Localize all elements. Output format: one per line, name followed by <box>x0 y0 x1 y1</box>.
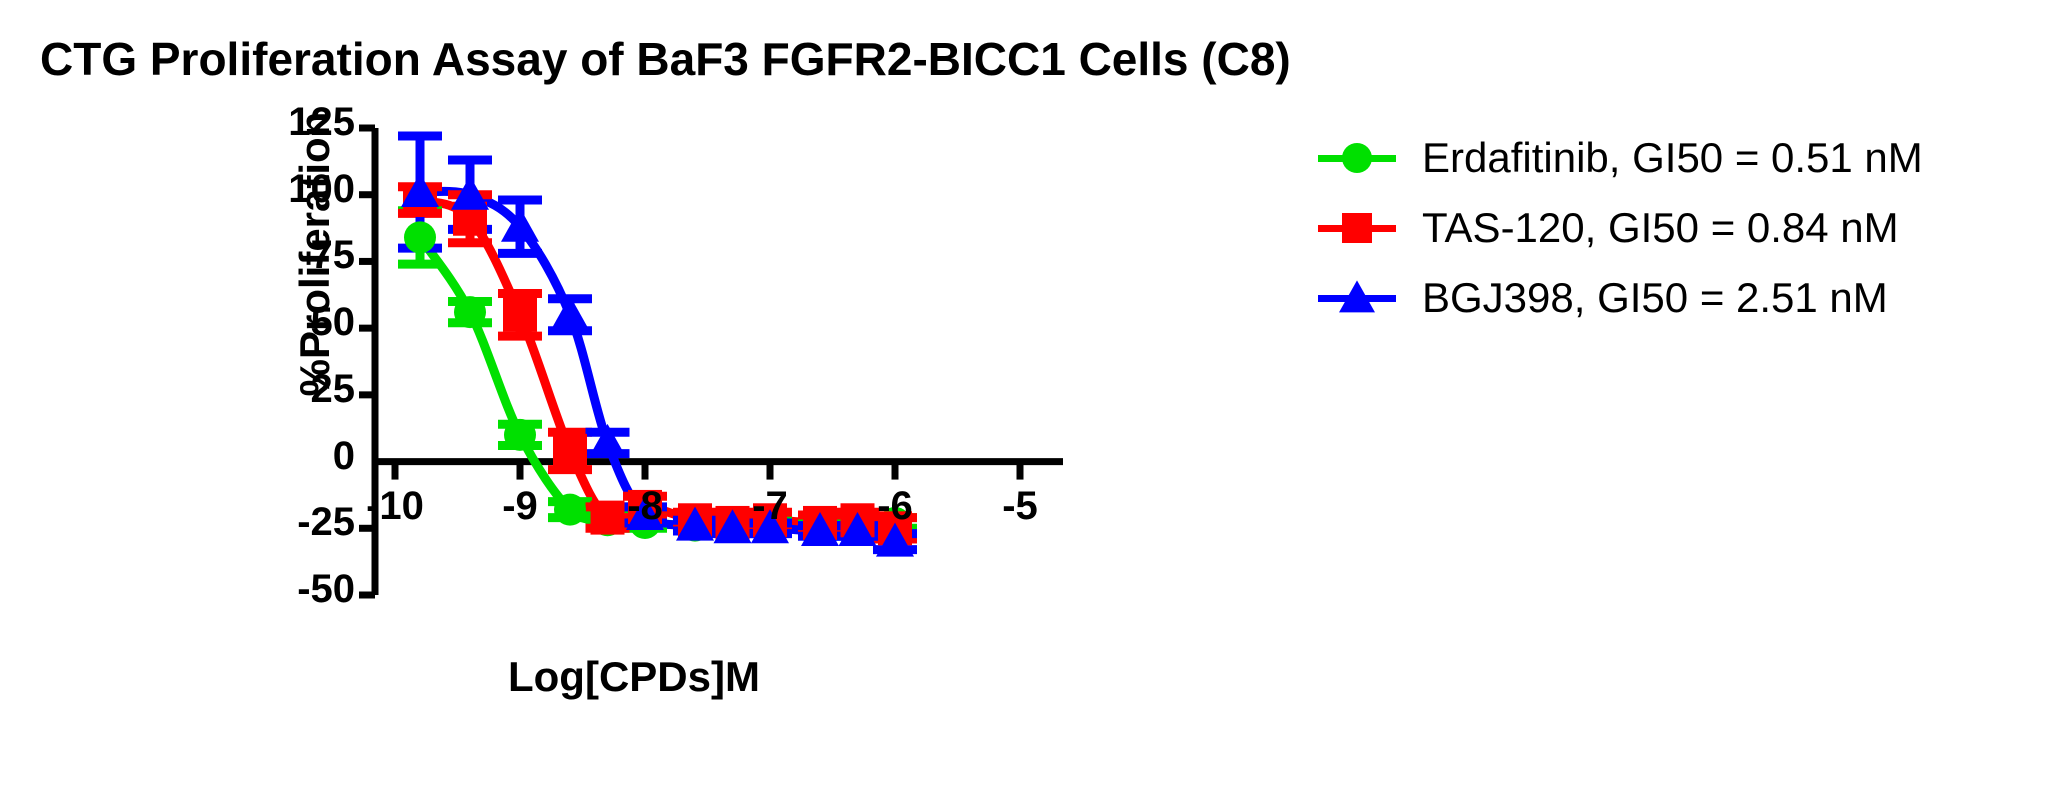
chart-legend: Erdafitinib, GI50 = 0.51 nMTAS-120, GI50… <box>1318 132 1923 324</box>
x-tick-label: -9 <box>480 484 560 529</box>
legend-item[interactable]: TAS-120, GI50 = 0.84 nM <box>1318 202 1923 254</box>
legend-item[interactable]: BGJ398, GI50 = 2.51 nM <box>1318 272 1923 324</box>
x-tick-label: -8 <box>605 484 685 529</box>
x-tick-label: -7 <box>730 484 810 529</box>
legend-marker-square-icon <box>1318 208 1396 248</box>
data-point-marker <box>503 298 537 332</box>
x-tick-label: -6 <box>855 484 935 529</box>
data-point-marker <box>454 296 486 328</box>
legend-item-label: TAS-120, GI50 = 0.84 nM <box>1422 204 1899 252</box>
legend-triangle-icon <box>1339 280 1375 312</box>
y-tick-label: 75 <box>150 233 355 278</box>
y-tick-label: -25 <box>150 500 355 545</box>
x-axis-title: Log[CPDs]M <box>508 653 760 701</box>
y-tick-label: -50 <box>150 567 355 612</box>
legend-circle-icon <box>1342 143 1372 173</box>
legend-marker-triangle-icon <box>1318 278 1396 318</box>
legend-square-icon <box>1342 213 1372 243</box>
y-tick-label: 25 <box>150 367 355 412</box>
y-tick-label: 0 <box>150 434 355 479</box>
series-curve-erdafitinib <box>420 237 895 525</box>
x-tick-label: -10 <box>355 484 435 529</box>
legend-item[interactable]: Erdafitinib, GI50 = 0.51 nM <box>1318 132 1923 184</box>
y-tick-label: 50 <box>150 300 355 345</box>
legend-item-label: BGJ398, GI50 = 2.51 nM <box>1422 274 1888 322</box>
data-point-marker <box>504 419 536 451</box>
legend-marker-circle-icon <box>1318 138 1396 178</box>
y-tick-label: 125 <box>150 100 355 145</box>
y-tick-label: 100 <box>150 167 355 212</box>
data-point-marker <box>404 221 436 253</box>
data-point-marker <box>553 434 587 468</box>
legend-item-label: Erdafitinib, GI50 = 0.51 nM <box>1422 134 1923 182</box>
x-tick-label: -5 <box>980 484 1060 529</box>
